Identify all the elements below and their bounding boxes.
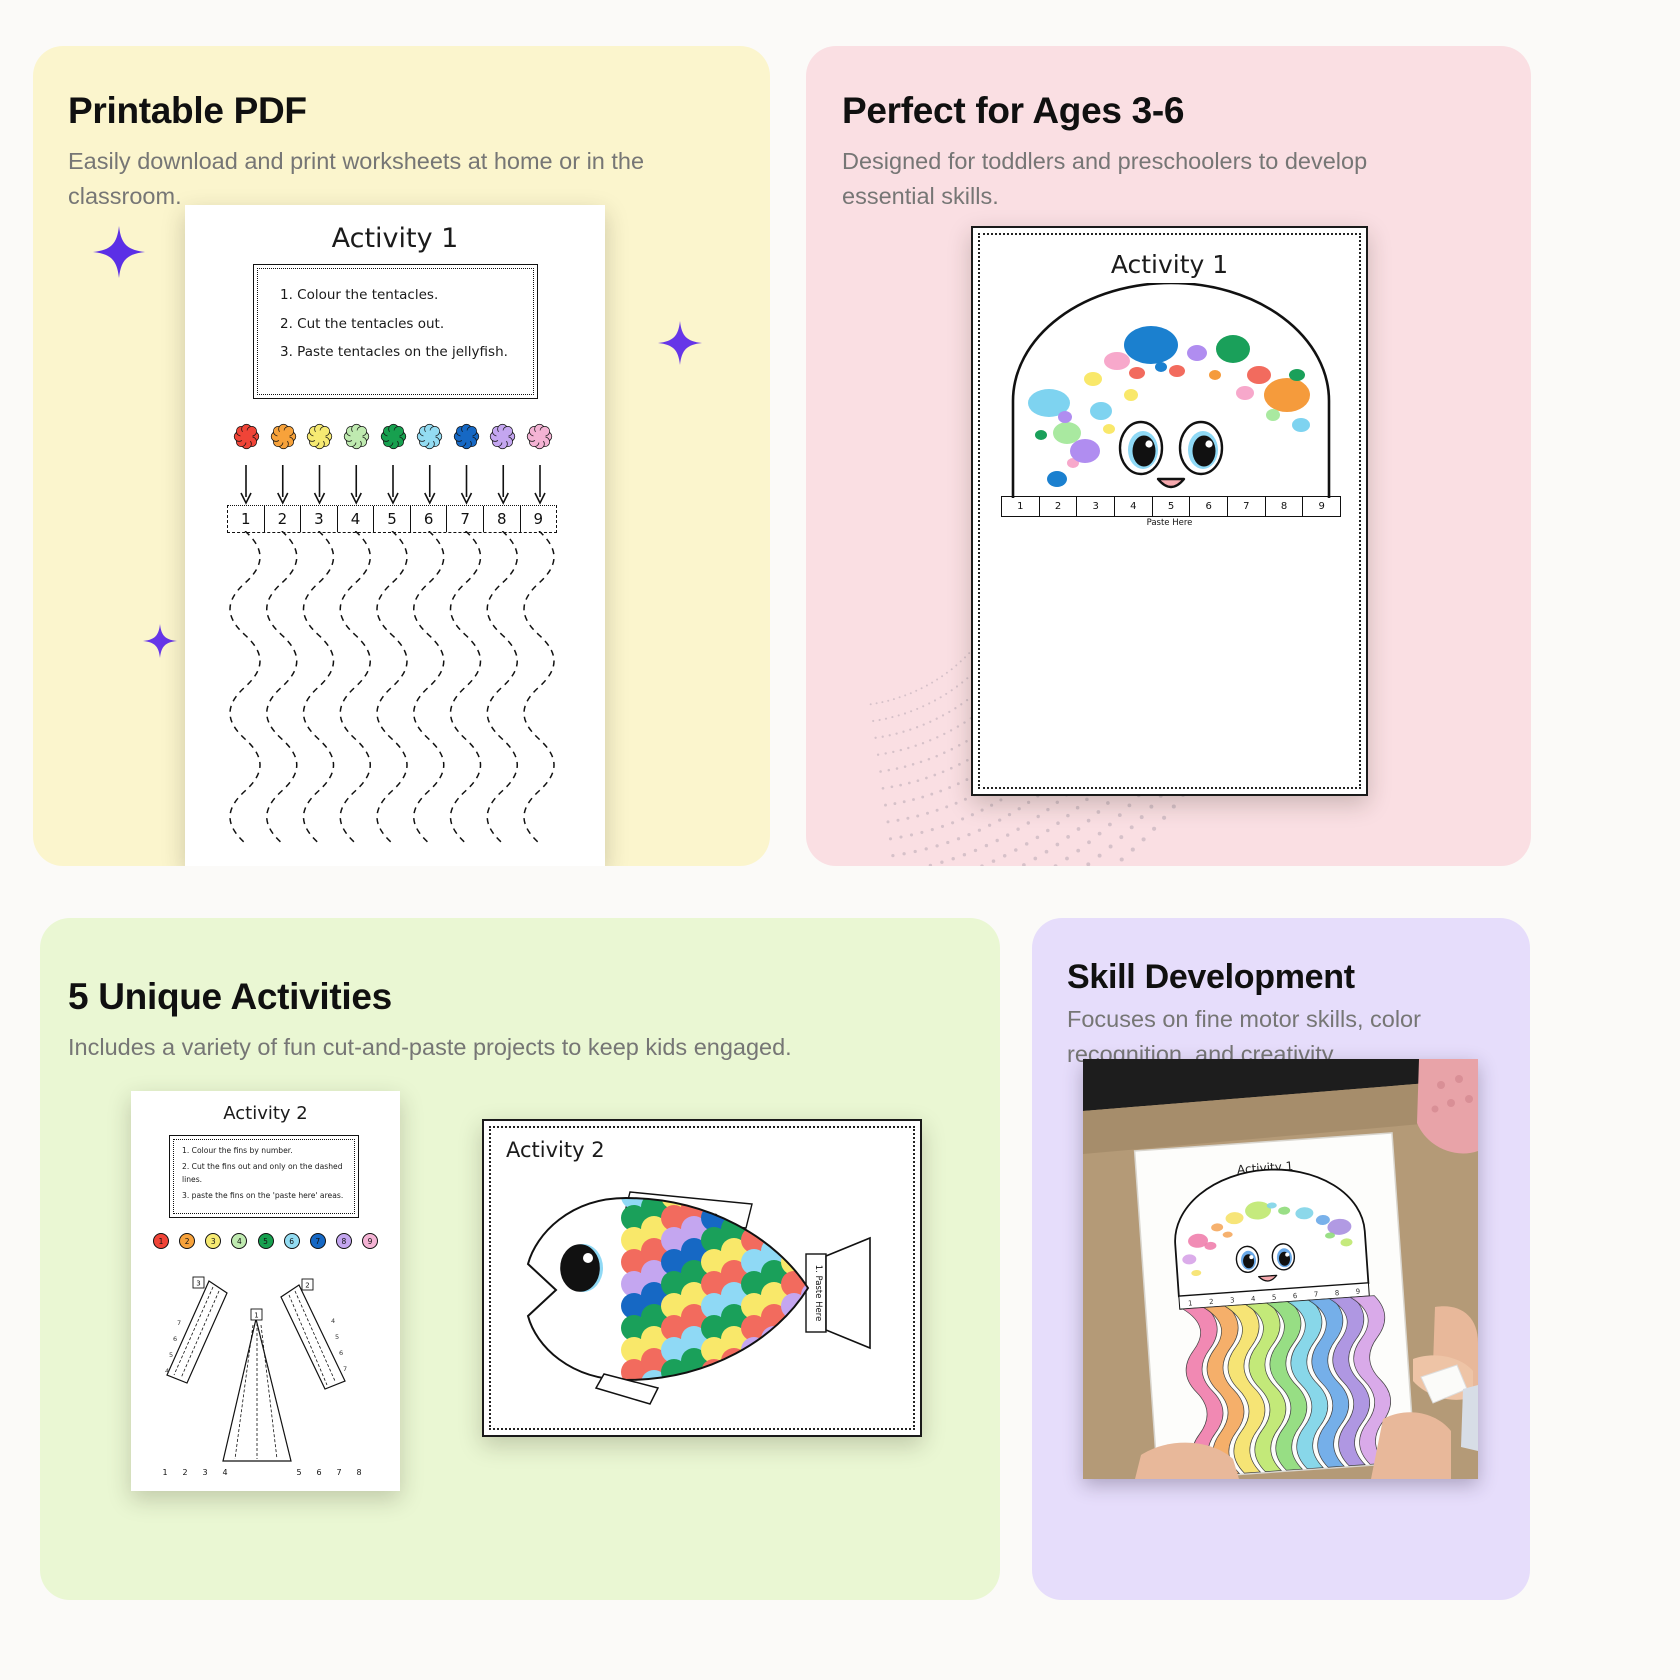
- card-subtitle: Includes a variety of fun cut-and-paste …: [68, 1030, 948, 1065]
- legend-color-circle: 4: [231, 1233, 247, 1249]
- card-printable-pdf: Printable PDF Easily download and print …: [33, 46, 770, 866]
- svg-text:2: 2: [1209, 1298, 1214, 1306]
- flower-swatch-icon: [270, 423, 297, 455]
- svg-text:5: 5: [1272, 1293, 1277, 1301]
- legend-color-circle: 2: [179, 1233, 195, 1249]
- worksheet-title: Activity 2: [506, 1138, 605, 1162]
- paste-here-label: Paste Here: [973, 518, 1366, 528]
- number-cell: 1: [228, 506, 265, 532]
- svg-text:9: 9: [1355, 1288, 1360, 1296]
- svg-text:3: 3: [1230, 1296, 1235, 1304]
- feature-cards-page: Printable PDF Easily download and print …: [0, 0, 1680, 1680]
- number-cell: 6: [411, 506, 448, 532]
- legend-color-circle: 9: [362, 1233, 378, 1249]
- number-cell: 3: [1077, 497, 1115, 516]
- svg-text:5: 5: [169, 1351, 173, 1359]
- worksheet-title: Activity 1: [185, 223, 605, 254]
- jellyfish-illustration: [1001, 283, 1341, 498]
- svg-text:7: 7: [177, 1319, 181, 1327]
- number-cell: 5: [374, 506, 411, 532]
- flower-swatch-icon: [416, 423, 443, 455]
- fish-illustration: 2. Paste Here 1. Paste Here: [508, 1176, 900, 1406]
- svg-text:4: 4: [331, 1317, 335, 1325]
- svg-text:2: 2: [182, 1468, 187, 1477]
- worksheet-title: Activity 1: [973, 250, 1366, 279]
- number-strip: 123456789: [1001, 496, 1341, 517]
- worksheet-title: Activity 2: [131, 1103, 400, 1124]
- legend-color-circle: 7: [310, 1233, 326, 1249]
- svg-text:5: 5: [296, 1468, 301, 1477]
- number-cell: 5: [1153, 497, 1191, 516]
- dashed-tentacles: [227, 531, 567, 861]
- card-subtitle: Easily download and print worksheets at …: [68, 144, 668, 213]
- legend-color-circle: 8: [336, 1233, 352, 1249]
- number-cell: 3: [301, 506, 338, 532]
- svg-text:4: 4: [165, 1367, 169, 1375]
- number-cell: 9: [1303, 497, 1340, 516]
- svg-text:1: 1: [162, 1468, 167, 1477]
- svg-text:8: 8: [356, 1468, 361, 1477]
- sparkle-medium-icon: [658, 321, 702, 365]
- card-unique-activities: 5 Unique Activities Includes a variety o…: [40, 918, 1000, 1600]
- legend-color-circle: 6: [284, 1233, 300, 1249]
- number-cell: 7: [1228, 497, 1266, 516]
- number-cell: 2: [265, 506, 302, 532]
- number-cell: 7: [447, 506, 484, 532]
- svg-text:7: 7: [336, 1468, 341, 1477]
- number-cell: 9: [521, 506, 557, 532]
- fish-tail-tab-label: 1. Paste Here: [813, 1265, 823, 1322]
- sparkle-large-icon: [93, 226, 145, 278]
- svg-text:6: 6: [339, 1349, 343, 1357]
- number-cell: 6: [1190, 497, 1228, 516]
- legend-color-circle: 3: [205, 1233, 221, 1249]
- photo-content: Activity 1 123456789: [1083, 1059, 1478, 1479]
- number-cell: 4: [338, 506, 375, 532]
- instruction-item: 1. Colour the fins by number.: [182, 1145, 350, 1157]
- card-title: Printable PDF: [68, 90, 307, 132]
- legend-color-circle: 1: [153, 1233, 169, 1249]
- svg-text:2: 2: [305, 1282, 309, 1290]
- instruction-item: 2. Cut the fins out and only on the dash…: [182, 1157, 350, 1186]
- svg-text:5: 5: [335, 1333, 339, 1341]
- skill-development-photo: Activity 1 123456789: [1083, 1059, 1478, 1479]
- flower-swatch-icon: [306, 423, 333, 455]
- flower-swatch-icon: [453, 423, 480, 455]
- flower-swatch-icon: [489, 423, 516, 455]
- flower-swatch-icon: [380, 423, 407, 455]
- card-title: Perfect for Ages 3-6: [842, 90, 1184, 132]
- instructions-box: 1. Colour the tentacles. 2. Cut the tent…: [253, 264, 538, 399]
- instruction-item: 3. Paste tentacles on the jellyfish.: [280, 338, 527, 361]
- card-title: Skill Development: [1067, 958, 1355, 997]
- number-cell: 2: [1040, 497, 1078, 516]
- card-skill-development: Skill Development Focuses on fine motor …: [1032, 918, 1530, 1600]
- arrow-row-icon: [233, 463, 553, 507]
- worksheet-activity1-jellyfish: Activity 1: [971, 226, 1368, 796]
- flower-swatch-row: [233, 423, 553, 455]
- color-number-legend: 123456789: [153, 1233, 378, 1249]
- svg-text:3: 3: [202, 1468, 207, 1477]
- worksheet-activity2-fish: Activity 2 2. Paste Here 1. Paste Here: [482, 1119, 922, 1437]
- instructions-box: 1. Colour the fins by number. 2. Cut the…: [169, 1135, 359, 1218]
- card-title: 5 Unique Activities: [68, 976, 392, 1018]
- worksheet-activity1-tentacles: Activity 1 1. Colour the tentacles. 2. C…: [185, 205, 605, 866]
- flower-swatch-icon: [526, 423, 553, 455]
- flower-swatch-icon: [343, 423, 370, 455]
- svg-text:4: 4: [222, 1468, 227, 1477]
- card-subtitle: Designed for toddlers and preschoolers t…: [842, 144, 1432, 213]
- number-strip: 123456789: [227, 505, 557, 533]
- svg-text:1: 1: [1188, 1299, 1193, 1307]
- svg-text:6: 6: [316, 1468, 321, 1477]
- fins-diagram: 3 2 1 76 54 45 67 12345678: [149, 1263, 382, 1478]
- svg-text:7: 7: [1314, 1291, 1319, 1299]
- svg-text:1: 1: [254, 1312, 258, 1320]
- number-cell: 8: [484, 506, 521, 532]
- number-cell: 8: [1266, 497, 1304, 516]
- sparkle-small-icon: [143, 624, 177, 658]
- instruction-item: 3. paste the fins on the 'paste here' ar…: [182, 1186, 350, 1202]
- instruction-item: 2. Cut the tentacles out.: [280, 310, 527, 339]
- card-perfect-for-ages: Perfect for Ages 3-6 Designed for toddle…: [806, 46, 1531, 866]
- svg-text:6: 6: [173, 1335, 177, 1343]
- flower-swatch-icon: [233, 423, 260, 455]
- svg-text:7: 7: [343, 1365, 347, 1373]
- legend-color-circle: 5: [258, 1233, 274, 1249]
- number-cell: 1: [1002, 497, 1040, 516]
- number-cell: 4: [1115, 497, 1153, 516]
- svg-text:8: 8: [1335, 1289, 1340, 1297]
- svg-text:3: 3: [196, 1280, 200, 1288]
- worksheet-activity2-fins: Activity 2 1. Colour the fins by number.…: [131, 1091, 400, 1491]
- instruction-item: 1. Colour the tentacles.: [280, 281, 527, 310]
